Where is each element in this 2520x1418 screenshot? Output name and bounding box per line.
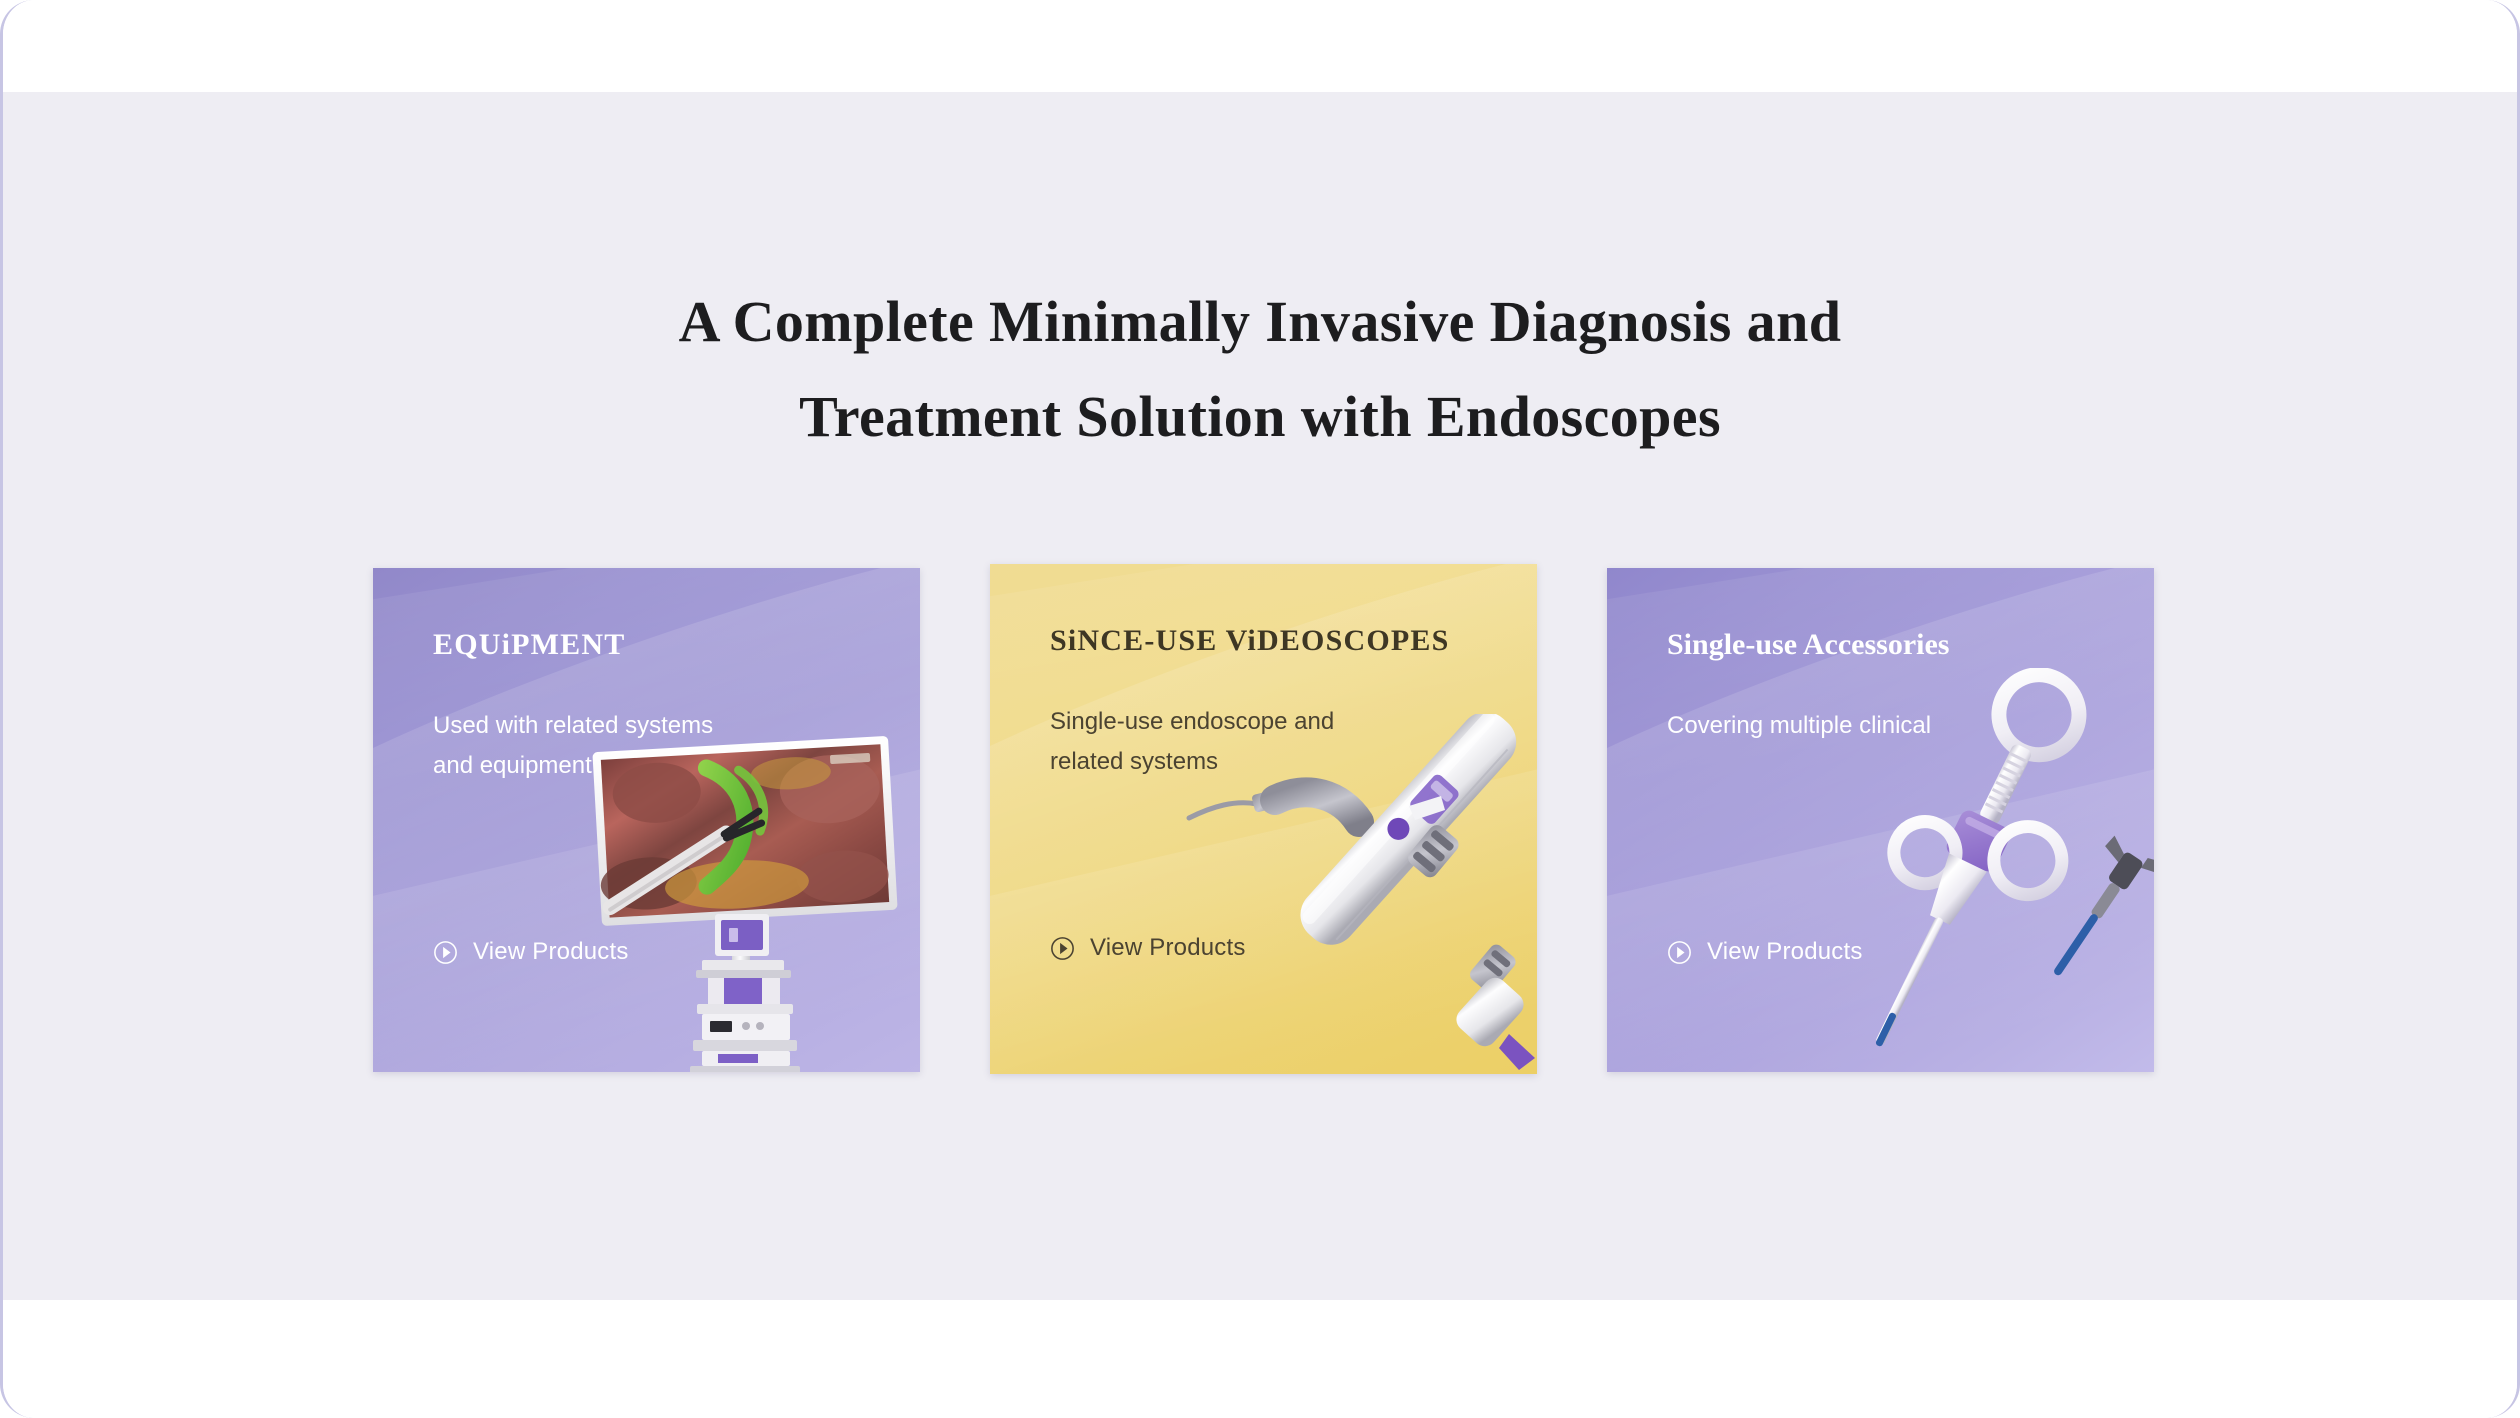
circle-arrow-right-icon [433, 940, 458, 965]
decorative-swoosh-low [1607, 736, 2154, 1072]
card-title: Single-use Accessories [1667, 628, 1997, 662]
page-title-line-1: A Complete Minimally Invasive Diagnosis … [3, 274, 2517, 369]
page-top-whitespace [3, 0, 2517, 92]
page-title-line-2: Treatment Solution with Endoscopes [3, 369, 2517, 464]
decorative-swoosh-low [373, 736, 920, 1072]
page-content-section: A Complete Minimally Invasive Diagnosis … [3, 92, 2517, 1300]
category-card-single-use-videoscopes[interactable]: SiNCE-USE ViDEOSCOPES Single-use endosco… [990, 564, 1537, 1074]
browser-viewport: A Complete Minimally Invasive Diagnosis … [0, 0, 2520, 1418]
view-products-link[interactable]: View Products [1050, 934, 1246, 962]
view-products-label: View Products [1707, 938, 1863, 966]
view-products-label: View Products [1090, 934, 1246, 962]
card-description: Used with related systems and equipment [433, 706, 733, 786]
page-title: A Complete Minimally Invasive Diagnosis … [3, 274, 2517, 464]
card-text-block: SiNCE-USE ViDEOSCOPES Single-use endosco… [1050, 564, 1380, 782]
view-products-label: View Products [473, 938, 629, 966]
card-text-block: Single-use Accessories Covering multiple… [1667, 568, 1997, 746]
view-products-link[interactable]: View Products [433, 938, 629, 966]
category-card-single-use-accessories[interactable]: Single-use Accessories Covering multiple… [1607, 568, 2154, 1072]
endoscopy-monitor-cart-image [584, 736, 914, 1072]
card-description: Covering multiple clinical [1667, 706, 1967, 746]
card-title: EQUiPMENT [433, 628, 763, 662]
card-text-block: EQUiPMENT Used with related systems and … [433, 568, 763, 786]
card-description: Single-use endoscope and related systems [1050, 702, 1350, 782]
decorative-swoosh-low [990, 736, 1537, 1074]
circle-arrow-right-icon [1050, 936, 1075, 961]
page-bottom-whitespace [3, 1300, 2517, 1418]
card-title: SiNCE-USE ViDEOSCOPES [1050, 624, 1380, 658]
circle-arrow-right-icon [1667, 940, 1692, 965]
category-card-equipment[interactable]: EQUiPMENT Used with related systems and … [373, 568, 920, 1072]
view-products-link[interactable]: View Products [1667, 938, 1863, 966]
product-category-card-row: EQUiPMENT Used with related systems and … [373, 568, 2155, 1080]
